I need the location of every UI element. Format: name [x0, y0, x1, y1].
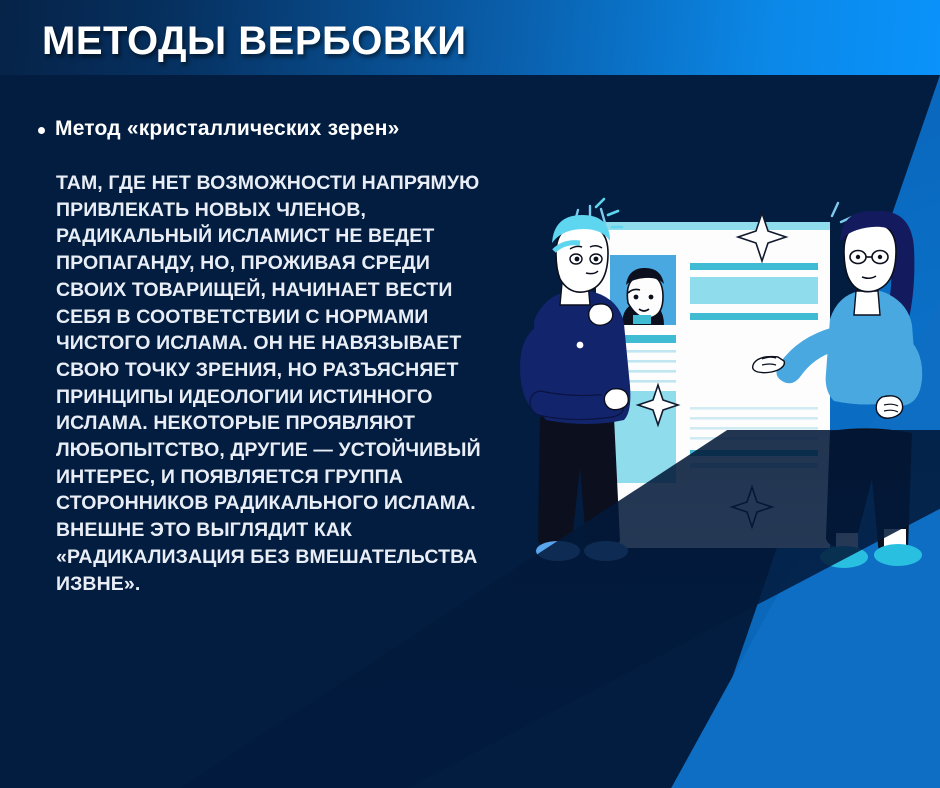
page-title: МЕТОДЫ ВЕРБОВКИ	[42, 19, 466, 64]
bullet-heading-label: Метод «кристаллических зерен»	[55, 116, 400, 141]
body-paragraph: ТАМ, ГДЕ НЕТ ВОЗМОЖНОСТИ НАПРЯМУЮ ПРИВЛЕ…	[56, 170, 486, 597]
slide-root: МЕТОДЫ ВЕРБОВКИ Метод «кристаллических з…	[0, 0, 940, 788]
bullet-dot-icon	[38, 127, 45, 134]
bullet-heading-row: Метод «кристаллических зерен»	[38, 116, 400, 141]
